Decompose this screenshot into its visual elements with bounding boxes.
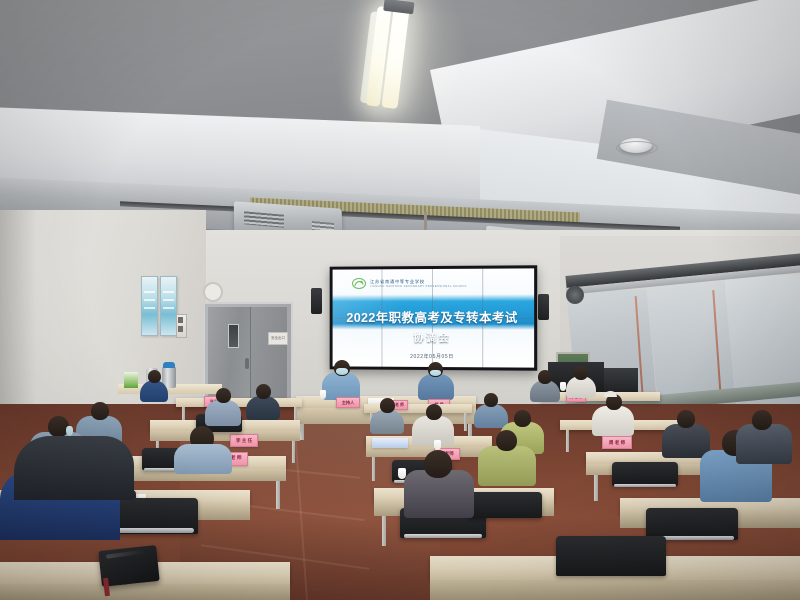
water-kettle-lid (163, 362, 175, 368)
desk-leg (464, 413, 467, 431)
nameplate-right-2: 周 老 师 (602, 436, 632, 449)
door-sign: 安全出口 (268, 332, 288, 345)
wall-speaker-left (311, 288, 322, 314)
chair[interactable] (556, 536, 666, 576)
attendee-head (216, 388, 231, 403)
desk-leg (372, 457, 375, 481)
attendee-body (246, 396, 280, 420)
presenter-right-mask (430, 370, 441, 376)
chair[interactable] (612, 462, 678, 486)
desk-leg (594, 475, 598, 501)
desk-left-row1 (176, 398, 302, 407)
attendee-head (148, 370, 161, 383)
wall-fan-icon (566, 286, 584, 304)
attendee-head (677, 410, 695, 428)
paper-cup (320, 390, 326, 399)
door-handle[interactable] (245, 358, 249, 369)
attendee-head (484, 393, 498, 407)
documents (372, 438, 408, 448)
front-table-leg (300, 424, 304, 440)
light-switch-button-1[interactable] (178, 317, 183, 323)
attendee-mask (66, 426, 73, 436)
wall-speaker-right (538, 294, 549, 320)
attendee-head (380, 398, 395, 413)
desk-leg (292, 441, 295, 463)
attendee-head (496, 430, 517, 451)
attendee-head (538, 370, 552, 384)
pendant-fluorescent-light (350, 0, 435, 112)
presenter-left-mask (336, 368, 348, 375)
attendee-body (174, 444, 232, 474)
attendee-head (514, 410, 531, 427)
paper-cup (398, 468, 406, 479)
chair-rail (404, 534, 482, 538)
paper-cup (434, 440, 441, 450)
wall-clock-icon (203, 282, 223, 302)
attendee-head (256, 384, 271, 399)
attendee-body (662, 424, 710, 458)
attendee-body (205, 400, 241, 426)
attendee-body (736, 424, 792, 464)
desk-apron (0, 584, 290, 600)
screen-date: 2022年05月05日 (333, 353, 531, 360)
desk-leg (382, 516, 386, 546)
wall-poster-left (141, 276, 158, 336)
attendee-body (474, 404, 508, 428)
attendee-body (370, 410, 404, 434)
photo-scene: 安全出口 江苏省南通中等专业学校 JIANGSU NANTONG SECONDA… (0, 0, 800, 600)
attendee-head (426, 404, 442, 420)
attendee-head (424, 450, 452, 478)
paper-cup (560, 382, 566, 391)
screen-org-name-sub: JIANGSU NANTONG SECONDARY PROFESSIONAL S… (370, 285, 480, 288)
attendee-head (752, 410, 772, 430)
attendee-head (574, 366, 588, 380)
desk-apron (150, 431, 300, 441)
chair[interactable] (468, 492, 542, 518)
nameplate-front-left: 主持人 (336, 397, 360, 408)
screen-title: 2022年职教高考及专转本考试 (333, 307, 531, 326)
chair-rail (614, 484, 676, 487)
smoke-detector-rim (616, 141, 658, 155)
attendee-body (592, 406, 634, 436)
presenter-right-body (418, 374, 454, 400)
attendee-body (412, 416, 454, 446)
nameplate-left-2: 李 主 任 (230, 434, 258, 447)
presenter-left-body (322, 372, 360, 400)
attendee-body (478, 446, 536, 486)
attendee-body (14, 436, 134, 500)
desk-leg (566, 430, 569, 452)
desk-leg (276, 481, 280, 509)
school-logo-icon (352, 278, 366, 289)
desk-apron (430, 580, 800, 600)
hair-clip (604, 391, 617, 397)
monitor (604, 368, 638, 392)
door-viewport-window (228, 324, 239, 348)
wall-poster-right (160, 276, 177, 336)
attendee-body (140, 380, 168, 402)
screen-subtitle: 协调会 (333, 330, 531, 345)
attendee-head (91, 402, 109, 420)
light-switch-button-2[interactable] (178, 326, 183, 332)
tissue-box (124, 372, 138, 388)
